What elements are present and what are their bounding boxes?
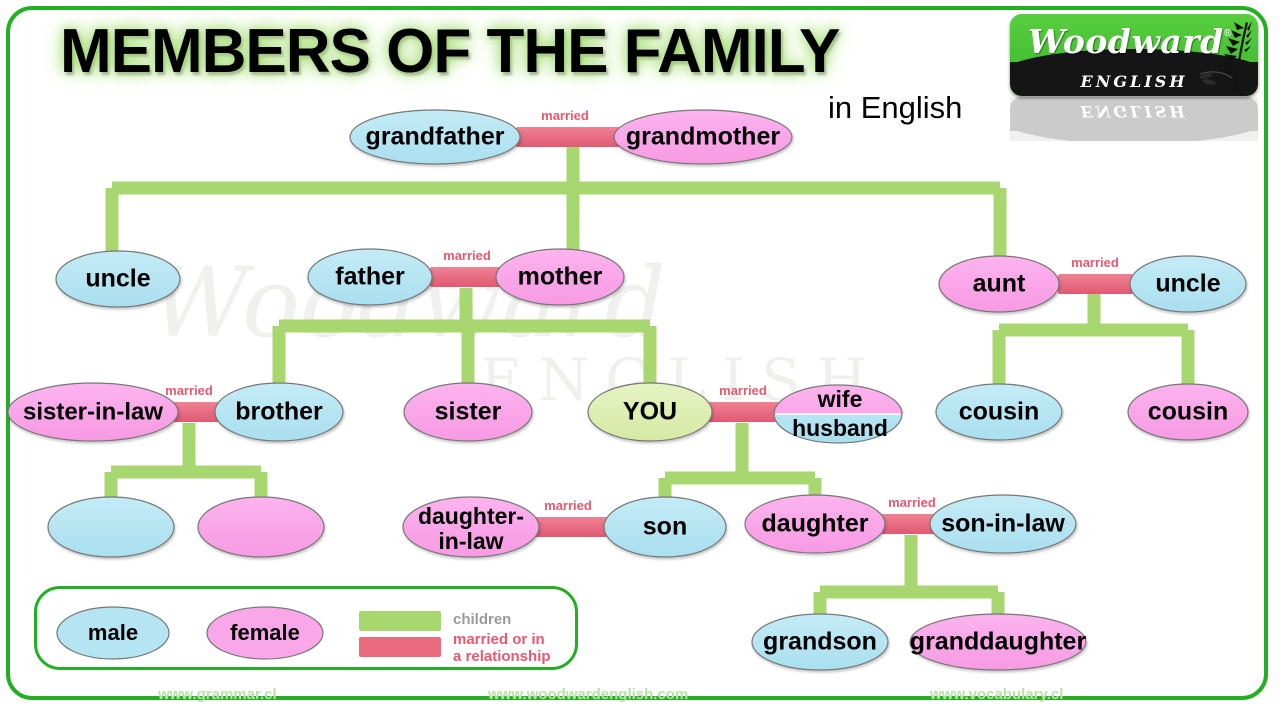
label-son: son	[643, 513, 687, 541]
label-uncle-right: uncle	[1155, 270, 1220, 298]
label-cousin-female: cousin	[1148, 398, 1229, 426]
legend-married-text-line2: a relationship	[453, 648, 551, 665]
label-mother: mother	[518, 263, 603, 291]
married-label-parents: married	[443, 248, 491, 263]
node-nephew[interactable]	[48, 497, 174, 557]
legend-children-text: children	[453, 611, 511, 628]
footer-link-vocab[interactable]: www.vocabulary.cl	[930, 686, 1063, 703]
label-sister-in-law: sister-in-law	[23, 398, 163, 425]
label-son-in-law: son-in-law	[941, 510, 1065, 538]
married-label-you: married	[719, 383, 767, 398]
label-cousin-male: cousin	[959, 398, 1040, 426]
label-wife: wife	[817, 386, 863, 412]
label-uncle-left: uncle	[85, 265, 150, 293]
label-brother: brother	[235, 398, 323, 426]
footer-link-grammar[interactable]: www.grammar.cl	[158, 686, 277, 703]
married-label-daughter: married	[888, 495, 936, 510]
label-you: YOU	[623, 398, 677, 426]
label-husband: husband	[792, 415, 888, 441]
label-daughter: daughter	[762, 510, 869, 538]
node-niece[interactable]	[198, 497, 324, 557]
label-grandfather: grandfather	[366, 123, 505, 151]
married-label-aunt-uncle: married	[1071, 255, 1119, 270]
label-daughter-in-law-2: in-law	[438, 528, 503, 554]
legend-children-swatch	[359, 611, 441, 631]
married-label-grandparents: married	[541, 108, 589, 123]
label-granddaughter: granddaughter	[910, 628, 1087, 656]
legend-female-label: female	[230, 620, 300, 645]
legend-married-text-line1: married or in	[453, 631, 545, 648]
legend-married-swatch	[359, 637, 441, 657]
label-aunt: aunt	[973, 270, 1026, 298]
married-label-son: married	[544, 498, 592, 513]
family-tree-infographic: Woodward ENGLISH MEMBERS OF THE FAMILY i…	[0, 0, 1280, 720]
label-grandson: grandson	[763, 628, 877, 656]
label-grandmother: grandmother	[626, 123, 780, 151]
married-label-brother: married	[165, 383, 213, 398]
label-sister: sister	[435, 398, 502, 426]
footer-link-woodward[interactable]: www.woodwardenglish.com	[488, 686, 688, 703]
legend-box: male female children married or in a rel…	[34, 586, 578, 670]
label-father: father	[335, 263, 405, 291]
legend-male-label: male	[88, 620, 138, 645]
label-daughter-in-law-1: daughter-	[418, 503, 524, 529]
